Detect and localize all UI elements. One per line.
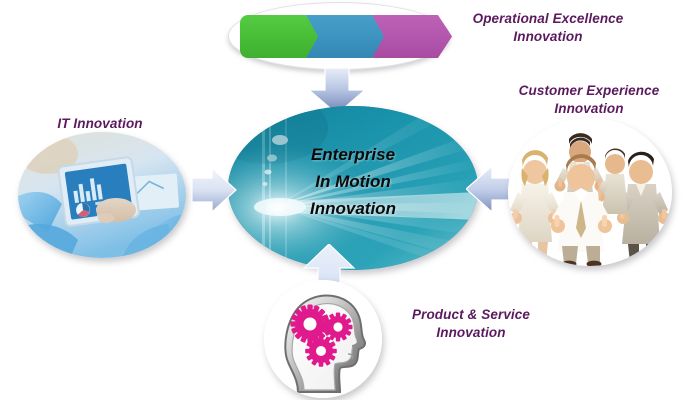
label-customer-experience-innovation: Customer Experience Innovation (496, 82, 682, 118)
head-with-gears-icon (264, 280, 382, 398)
diagram-canvas: Operational Excellence Innovation (0, 0, 688, 400)
label-operational-excellence-innovation: Operational Excellence Innovation (450, 10, 646, 46)
people-thumbs-up-photo (508, 118, 672, 266)
it-innovation-photo (18, 132, 186, 258)
label-it-innovation: IT Innovation (30, 115, 170, 133)
customer-experience-image[interactable] (508, 118, 672, 266)
chevron-green[interactable] (240, 15, 320, 58)
product-service-image[interactable] (264, 280, 382, 398)
center-ellipse-text: Enterprise In Motion Innovation (228, 142, 478, 223)
chevron-magenta[interactable] (372, 15, 452, 58)
chevron-row (240, 15, 440, 58)
chevron-blue[interactable] (306, 15, 386, 58)
it-innovation-image[interactable] (18, 132, 186, 258)
arrow-right-from-it (190, 164, 238, 216)
operational-excellence-process[interactable] (228, 2, 450, 70)
label-product-service-innovation: Product & Service Innovation (386, 306, 556, 342)
